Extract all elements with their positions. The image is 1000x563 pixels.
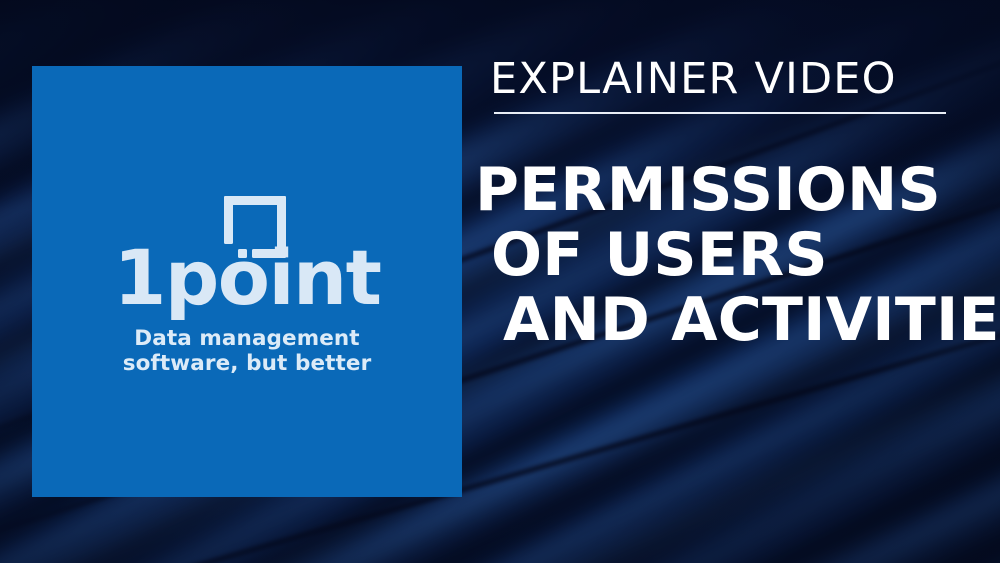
kicker-block: EXPLAINER VIDEO	[490, 58, 950, 114]
headline-line-2: OF USERS	[475, 223, 995, 288]
headline-line-1: PERMISSIONS	[475, 158, 995, 223]
logo-wordmark: 1point	[32, 240, 462, 316]
logo-tagline: Data management software, but better	[32, 326, 462, 376]
logo-panel: 1point Data management software, but bet…	[32, 66, 462, 497]
slide-canvas: 1point Data management software, but bet…	[0, 0, 1000, 563]
headline-line-3: AND ACTIVITIES	[475, 288, 995, 353]
kicker-underline	[494, 112, 946, 114]
page-title: PERMISSIONS OF USERS AND ACTIVITIES	[475, 158, 995, 353]
kicker-label: EXPLAINER VIDEO	[490, 58, 950, 101]
logo-tagline-line-1: Data management	[32, 326, 462, 351]
logo-tagline-line-2: software, but better	[32, 351, 462, 376]
